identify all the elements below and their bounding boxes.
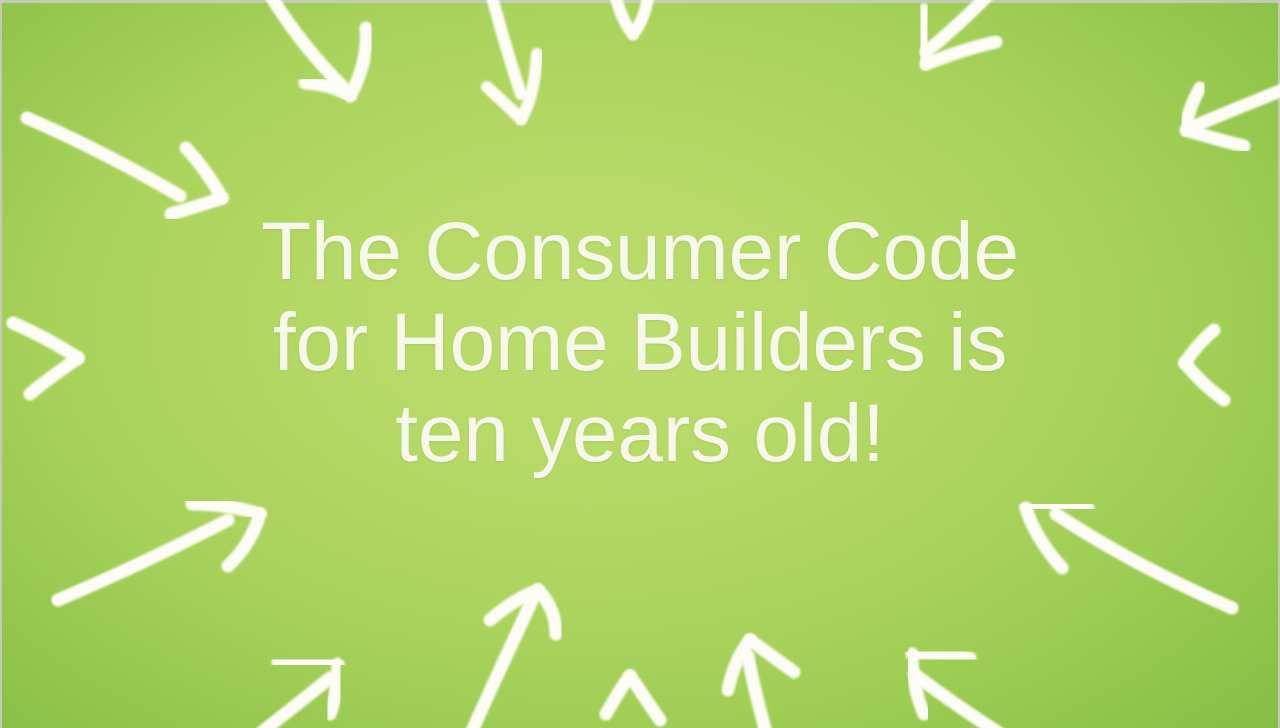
headline-line-2: for Home Builders is bbox=[0, 297, 1280, 388]
page-title: The Consumer Code for Home Builders is t… bbox=[0, 206, 1280, 479]
headline-line-1: The Consumer Code bbox=[0, 206, 1280, 297]
title-card-frame: The Consumer Code for Home Builders is t… bbox=[0, 0, 1280, 728]
headline-line-3: ten years old! bbox=[0, 388, 1280, 479]
